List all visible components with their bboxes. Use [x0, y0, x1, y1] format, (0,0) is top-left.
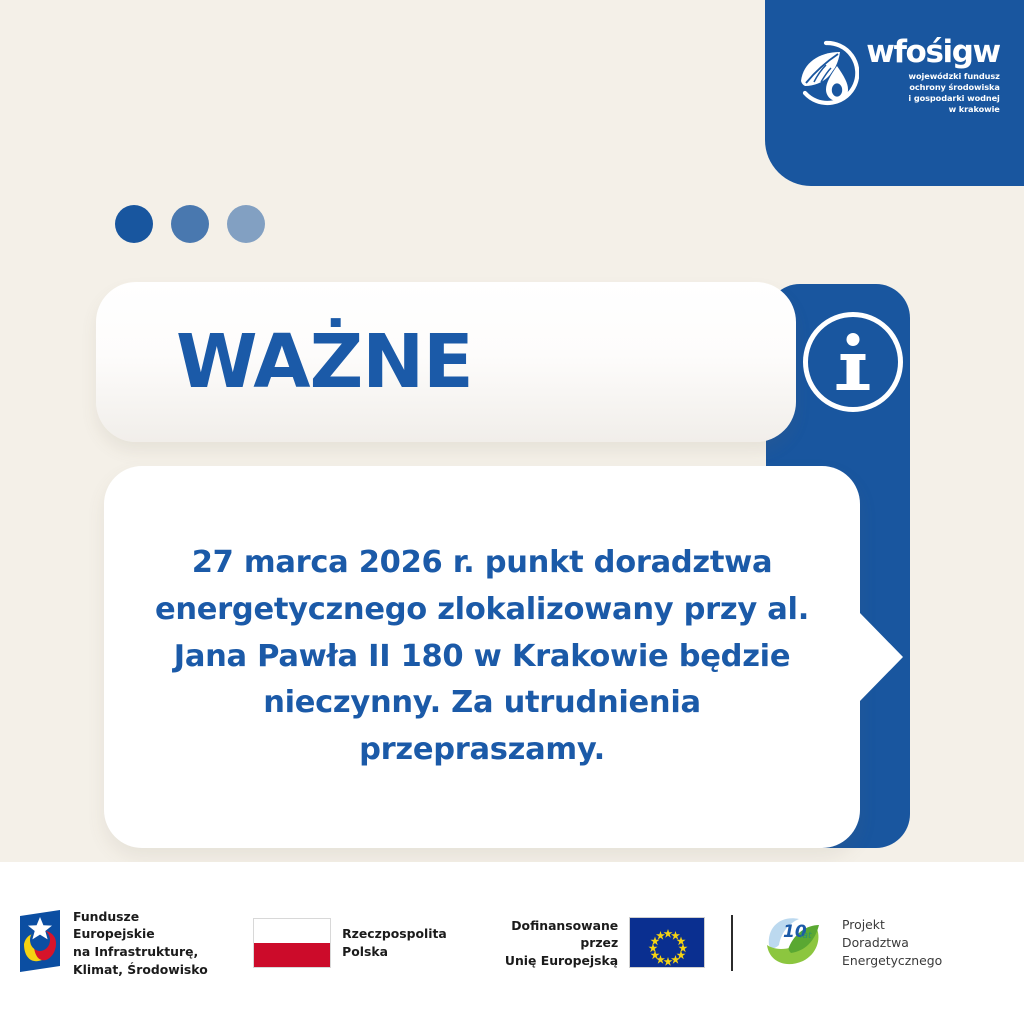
wfosigw-logo-lockup: wfośigw wojewódzki fundusz ochrony środo… [793, 37, 1000, 114]
decorative-dot-3 [227, 205, 265, 243]
leaf-icon-badge-suffix: lat [800, 931, 812, 941]
decorative-dots [115, 205, 265, 243]
poland-flag-icon [253, 918, 331, 968]
decorative-dot-2 [171, 205, 209, 243]
poster-canvas: wfośigw wojewódzki fundusz ochrony środo… [0, 0, 1024, 1024]
footer-item-eu-funds: Fundusze Europejskie na Infrastrukturę, … [18, 908, 212, 978]
footer-item-funded-by-eu: Dofinansowane przez Unię Europejską [484, 917, 705, 970]
headline-card: WAŻNE [96, 282, 796, 442]
poland-flag-red-band [254, 943, 330, 967]
footer-label-funded-by-eu: Dofinansowane przez Unię Europejską [484, 917, 618, 970]
leaf-and-droplet-icon [793, 39, 859, 114]
wfosigw-subtitle-line-1: wojewódzki fundusz [909, 71, 1000, 82]
leaf-10-years-icon: 10 lat [759, 911, 831, 976]
wfosigw-wordmark: wfośigw [866, 37, 1000, 68]
eu-funds-flag-icon [18, 910, 62, 977]
footer-item-energy-advisory-project: 10 lat Projekt Doradztwa Energetycznego [759, 911, 997, 976]
info-icon-circle [803, 312, 903, 412]
info-icon [803, 312, 903, 412]
page-title: WAŻNE [176, 325, 473, 399]
decorative-dot-1 [115, 205, 153, 243]
footer-label-eu-funds: Fundusze Europejskie na Infrastrukturę, … [73, 908, 212, 978]
footer-logo-bar: Fundusze Europejskie na Infrastrukturę, … [0, 862, 1024, 1024]
message-body: 27 marca 2026 r. punkt doradztwa energet… [104, 540, 860, 775]
wfosigw-text-block: wfośigw wojewódzki fundusz ochrony środo… [866, 37, 1000, 114]
footer-label-republic-of-poland: Rzeczpospolita Polska [342, 925, 447, 960]
wfosigw-subtitle-line-3: i gospodarki wodnej [908, 93, 999, 104]
wfosigw-subtitle-line-4: w krakowie [949, 104, 1000, 115]
footer-item-republic-of-poland: Rzeczpospolita Polska [253, 918, 447, 968]
wfosigw-subtitle-line-2: ochrony środowiska [909, 82, 999, 93]
eu-flag-icon [629, 917, 705, 968]
wfosigw-logo-panel: wfośigw wojewódzki fundusz ochrony środo… [765, 0, 1024, 186]
poland-flag-white-band [254, 919, 330, 943]
footer-label-energy-advisory-project: Projekt Doradztwa Energetycznego [842, 916, 997, 970]
message-card: 27 marca 2026 r. punkt doradztwa energet… [104, 466, 860, 848]
info-icon-stem-bottom-serif [837, 384, 870, 390]
info-icon-dot [847, 333, 860, 346]
footer-divider [731, 915, 733, 971]
